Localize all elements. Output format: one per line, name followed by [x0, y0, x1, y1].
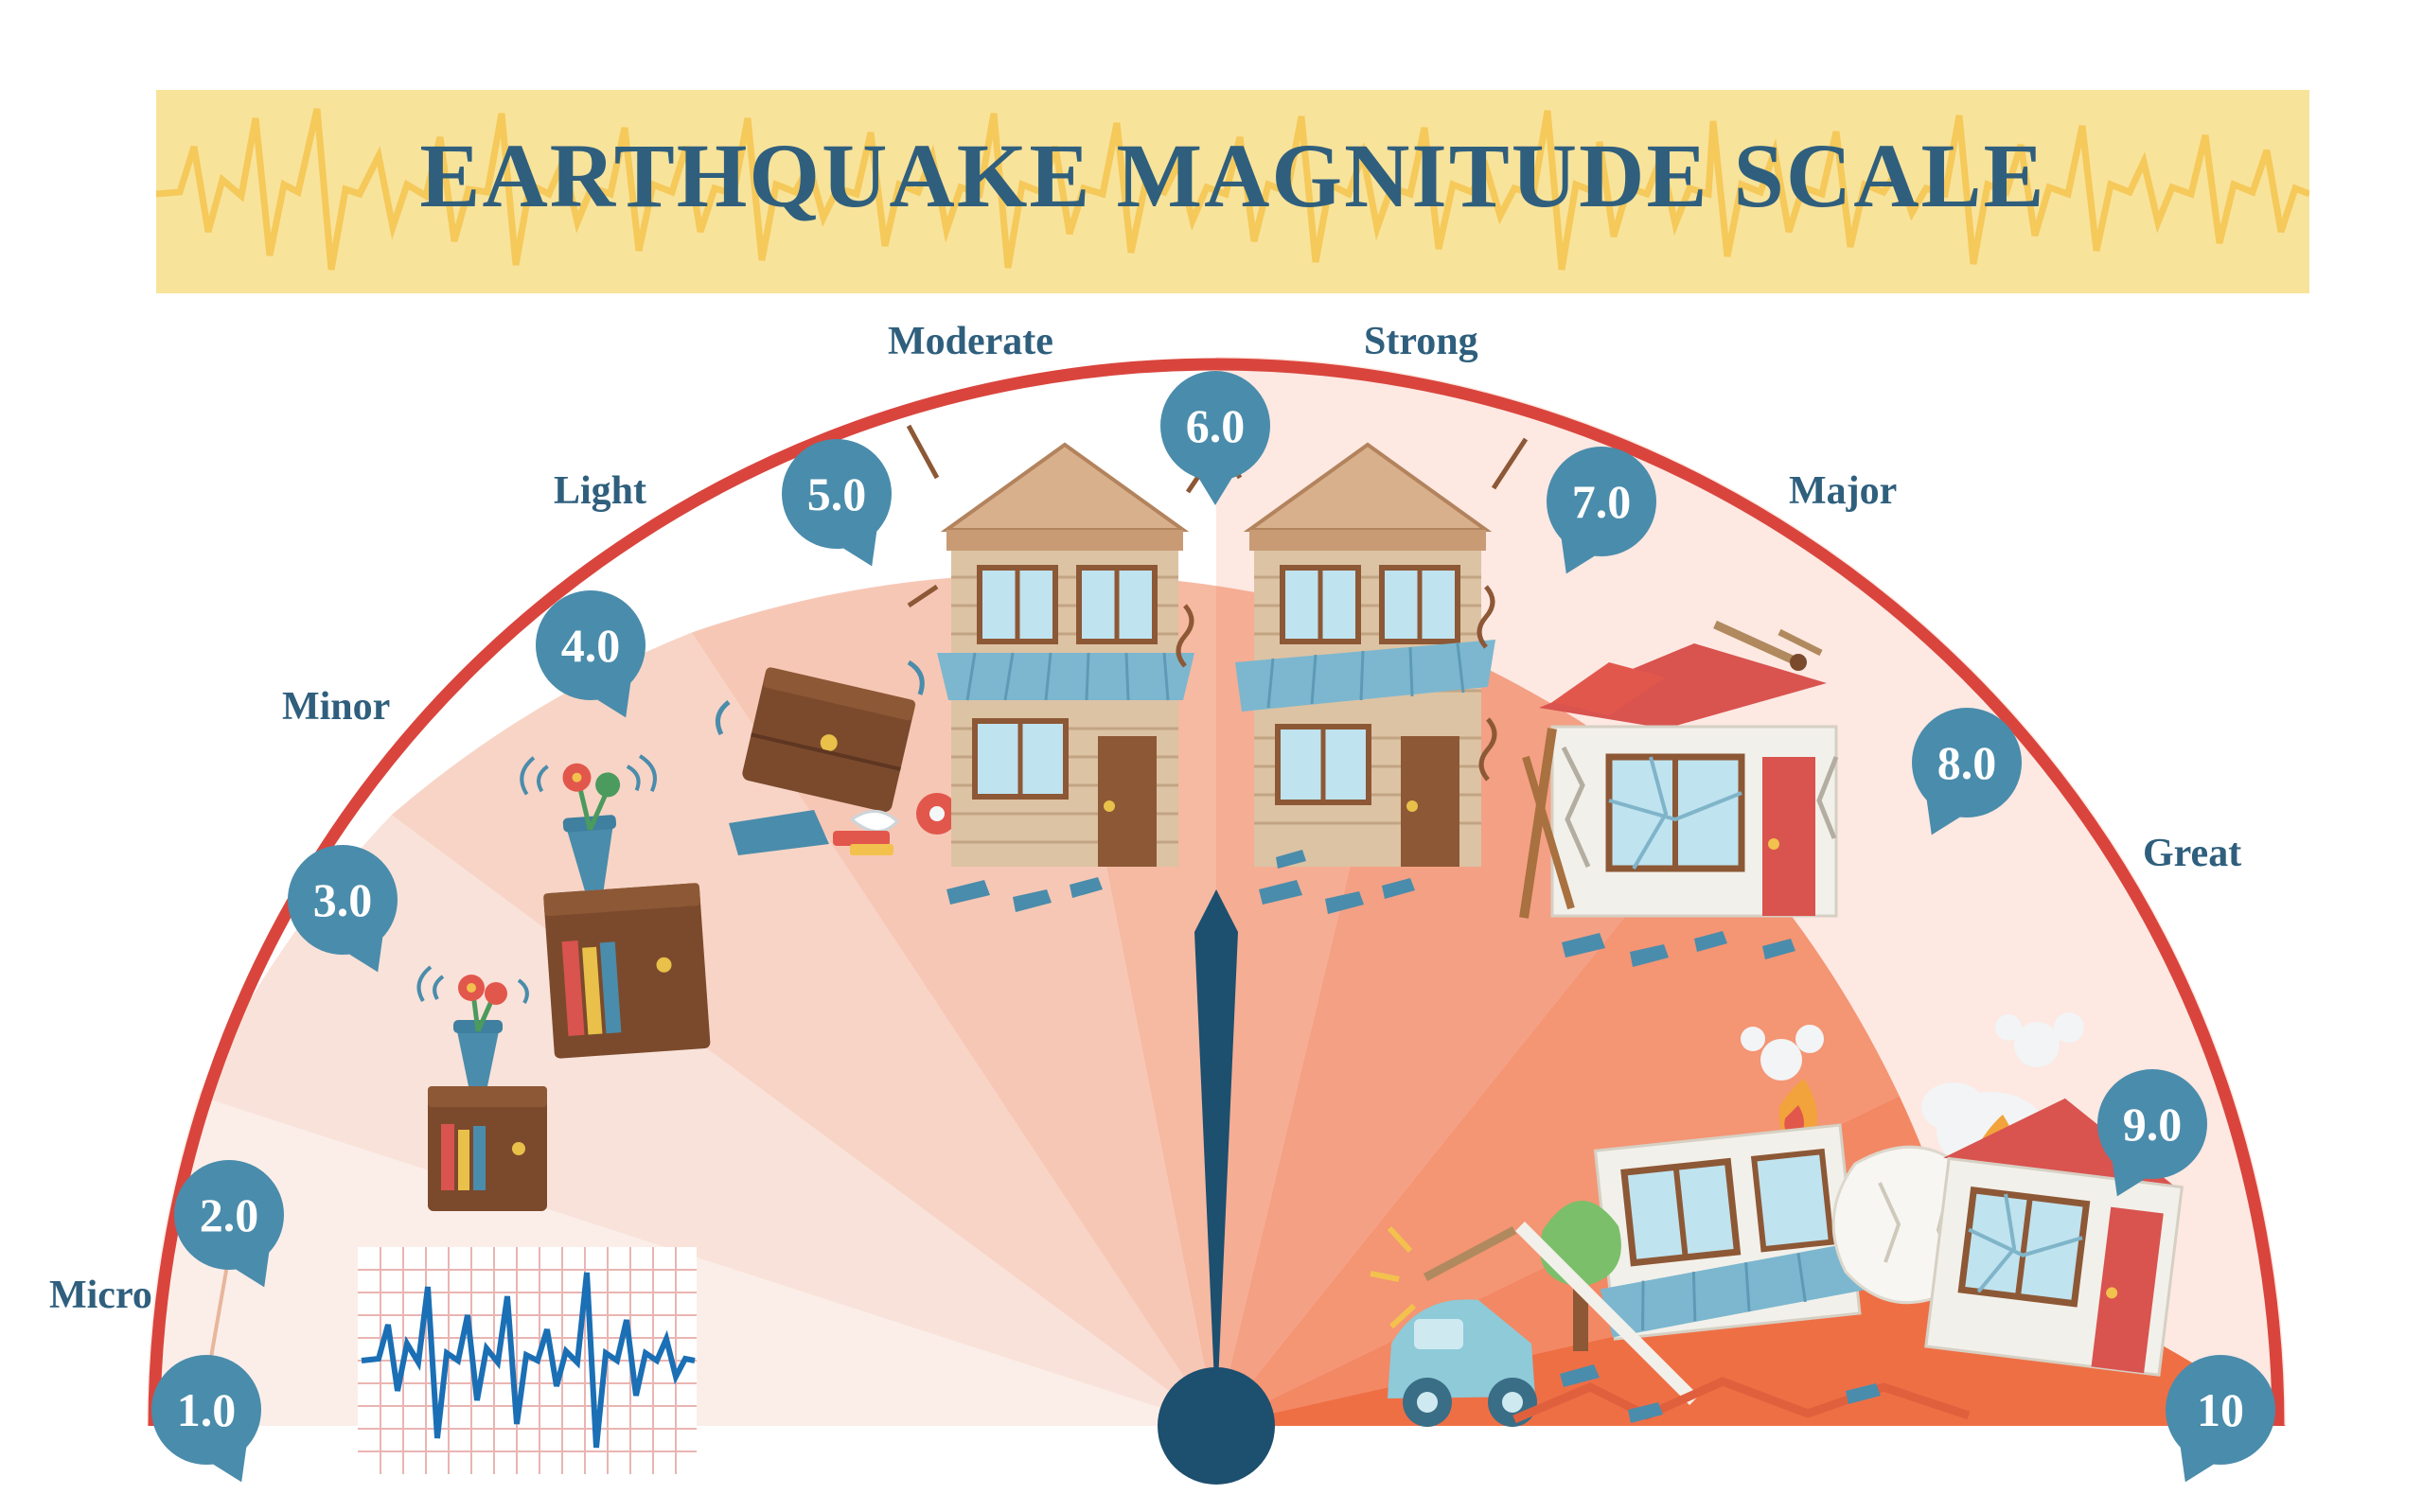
magnitude-bubble-4[interactable]: 4.0 — [536, 590, 646, 700]
magnitude-value: 6.0 — [1186, 398, 1246, 453]
category-label-strong: Strong — [1364, 319, 1478, 364]
magnitude-value: 5.0 — [807, 466, 867, 521]
page-title: EARTHQUAKE MAGNITUDE SCALE — [156, 123, 2309, 228]
magnitude-bubble-3[interactable]: 3.0 — [288, 845, 398, 955]
magnitude-value: 9.0 — [2123, 1097, 2183, 1152]
bubble-tail-icon — [1194, 471, 1236, 505]
magnitude-bubble-2[interactable]: 2.0 — [174, 1160, 284, 1270]
magnitude-bubble-6[interactable]: 6.0 — [1160, 371, 1270, 481]
magnitude-value: 3.0 — [313, 872, 373, 927]
category-label-major: Major — [1789, 468, 1897, 514]
category-label-light: Light — [554, 468, 646, 514]
magnitude-bubble-9[interactable]: 9.0 — [2097, 1069, 2207, 1179]
magnitude-value: 7.0 — [1572, 474, 1632, 529]
seismograph-illustration — [358, 1247, 697, 1474]
category-label-moderate: Moderate — [888, 319, 1053, 364]
house-minor-damage-illustration — [909, 426, 1221, 912]
magnitude-bubble-10[interactable]: 10 — [2166, 1355, 2275, 1465]
magnitude-bubble-8[interactable]: 8.0 — [1912, 708, 2022, 818]
magnitude-bubble-7[interactable]: 7.0 — [1547, 447, 1656, 556]
magnitude-value: 8.0 — [1937, 735, 1997, 790]
magnitude-value: 1.0 — [177, 1382, 237, 1437]
magnitude-value: 10 — [2197, 1382, 2244, 1437]
category-label-minor: Minor — [282, 684, 390, 730]
magnitude-value: 2.0 — [200, 1187, 259, 1242]
magnitude-value: 4.0 — [561, 618, 621, 673]
category-label-micro: Micro — [49, 1273, 152, 1318]
magnitude-bubble-5[interactable]: 5.0 — [782, 439, 892, 549]
category-label-great: Great — [2143, 831, 2241, 876]
magnitude-bubble-1[interactable]: 1.0 — [151, 1355, 261, 1465]
